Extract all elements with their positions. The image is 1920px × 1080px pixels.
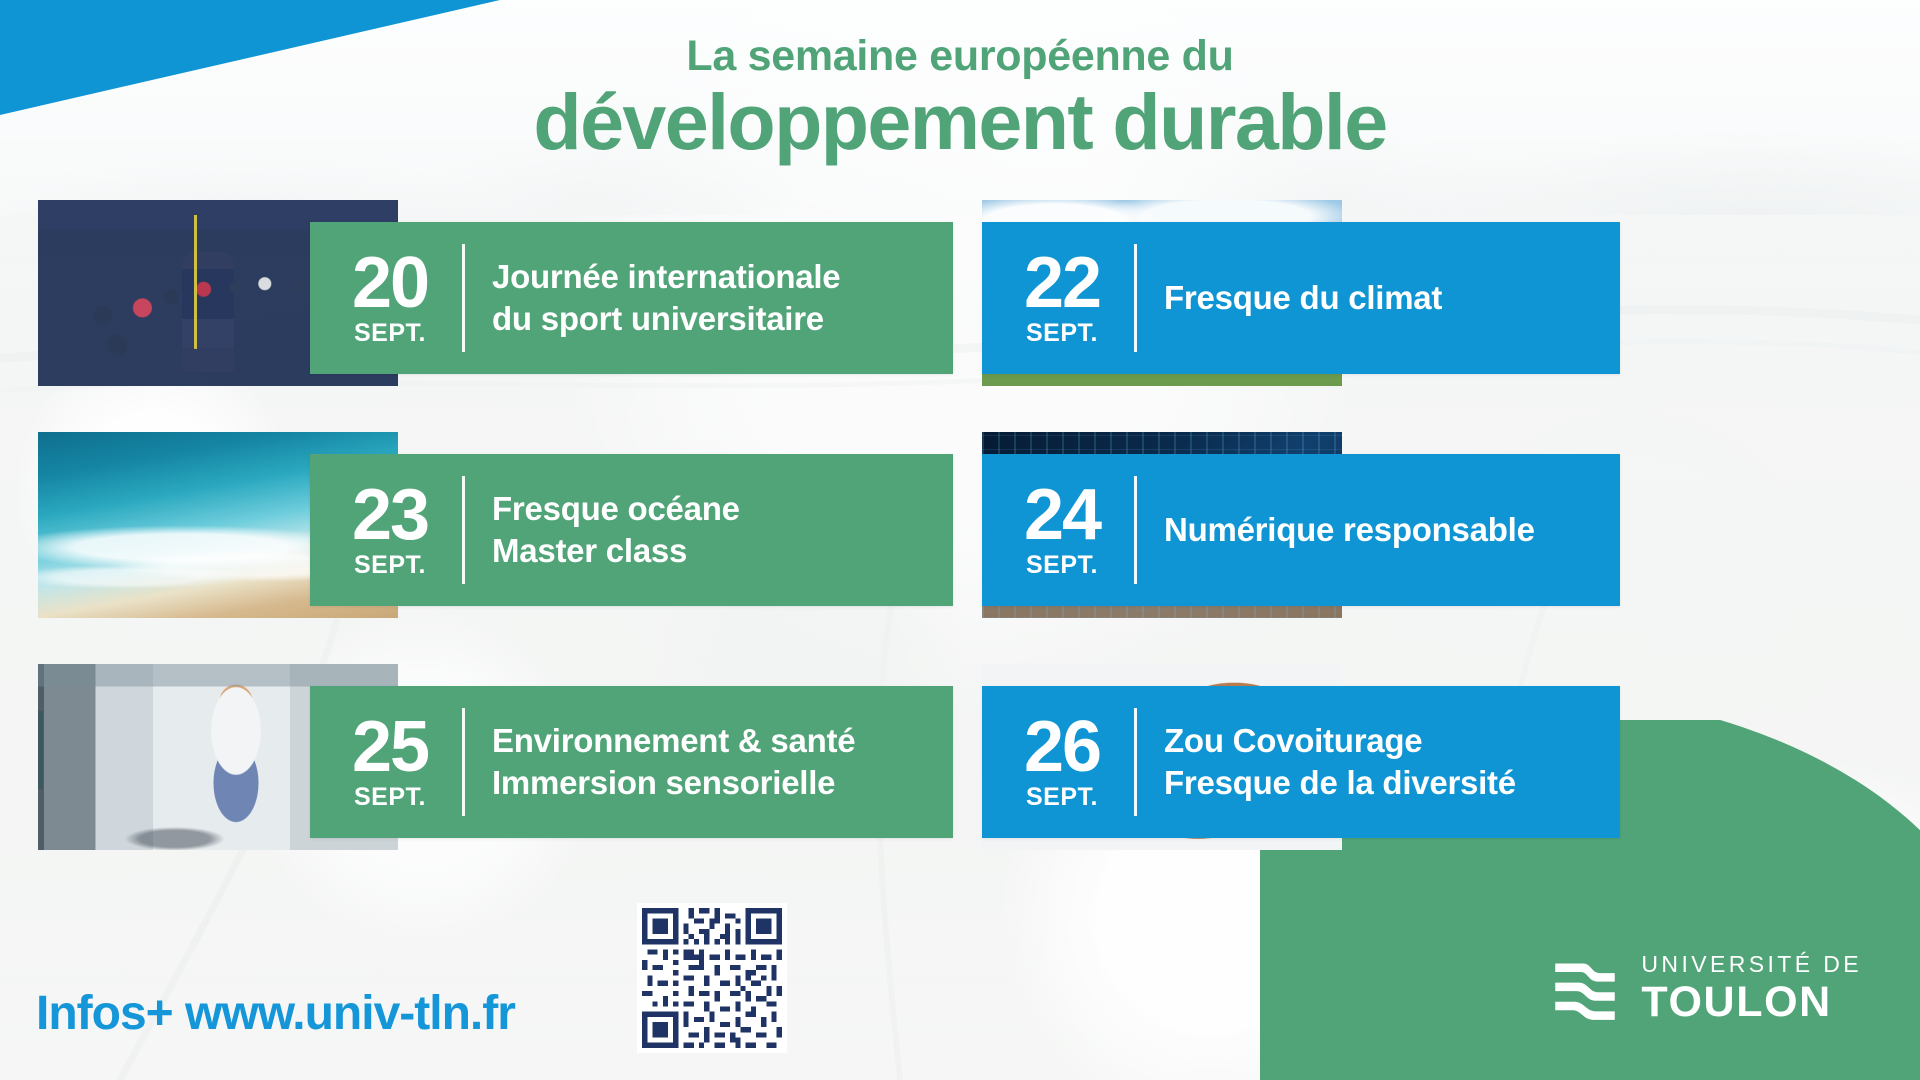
event-label-line: Environnement & santé (492, 720, 855, 762)
event-labels: Journée internationale du sport universi… (465, 256, 840, 340)
event-row-1: 20 SEPT. Journée internationale du sport… (0, 200, 1920, 400)
event-label-line: Master class (492, 530, 740, 572)
event-labels: Zou Covoiturage Fresque de la diversité (1137, 720, 1516, 804)
event-card-20-sept[interactable]: 20 SEPT. Journée internationale du sport… (38, 200, 953, 400)
qr-code-icon (637, 903, 787, 1053)
event-label-line: Fresque océane (492, 488, 740, 530)
event-label-line: Immersion sensorielle (492, 762, 855, 804)
event-date: 26 SEPT. (982, 714, 1134, 810)
event-month: SEPT. (354, 553, 426, 578)
divider (1134, 476, 1137, 584)
event-card-23-sept[interactable]: 23 SEPT. Fresque océane Master class (38, 432, 953, 632)
divider (462, 708, 465, 816)
event-day: 20 (352, 250, 428, 316)
event-bar: 20 SEPT. Journée internationale du sport… (310, 222, 953, 374)
event-labels: Numérique responsable (1137, 509, 1535, 551)
event-row-3: 25 SEPT. Environnement & santé Immersion… (0, 664, 1920, 864)
event-bar: 22 SEPT. Fresque du climat (982, 222, 1620, 374)
event-day: 25 (352, 714, 428, 780)
event-row-2: 23 SEPT. Fresque océane Master class AI (0, 432, 1920, 632)
event-month: SEPT. (1026, 321, 1098, 346)
photo-figure (182, 252, 234, 372)
event-label-line: Fresque de la diversité (1164, 762, 1516, 804)
event-label-line: Zou Covoiturage (1164, 720, 1516, 762)
event-label-line: Journée internationale (492, 256, 840, 298)
event-card-25-sept[interactable]: 25 SEPT. Environnement & santé Immersion… (38, 664, 953, 864)
divider (1134, 244, 1137, 352)
event-label-line: Fresque du climat (1164, 277, 1442, 319)
event-bar: 23 SEPT. Fresque océane Master class (310, 454, 953, 606)
logo-line-1: UNIVERSITÉ DE (1641, 953, 1862, 976)
event-date: 23 SEPT. (310, 482, 462, 578)
event-card-24-sept[interactable]: AI 24 SEPT. Numérique responsable (982, 432, 1894, 632)
event-bar: 24 SEPT. Numérique responsable (982, 454, 1620, 606)
event-day: 22 (1024, 250, 1100, 316)
event-labels: Environnement & santé Immersion sensorie… (465, 720, 855, 804)
event-day: 26 (1024, 714, 1100, 780)
events-grid: 20 SEPT. Journée internationale du sport… (0, 0, 1920, 1080)
event-month: SEPT. (354, 785, 426, 810)
event-card-26-sept[interactable]: 26 SEPT. Zou Covoiturage Fresque de la d… (982, 664, 1894, 864)
event-bar: 26 SEPT. Zou Covoiturage Fresque de la d… (982, 686, 1620, 838)
event-day: 23 (352, 482, 428, 548)
event-label-line: du sport universitaire (492, 298, 840, 340)
event-month: SEPT. (1026, 553, 1098, 578)
event-date: 22 SEPT. (982, 250, 1134, 346)
event-month: SEPT. (1026, 785, 1098, 810)
infos-link[interactable]: Infos+ www.univ-tln.fr (36, 986, 515, 1041)
event-date: 24 SEPT. (982, 482, 1134, 578)
wave-bars-logo-mark (1551, 955, 1619, 1023)
event-date: 25 SEPT. (310, 714, 462, 810)
divider (462, 244, 465, 352)
event-label-line: Numérique responsable (1164, 509, 1535, 551)
logo-text: UNIVERSITÉ DE TOULON (1641, 953, 1862, 1024)
event-month: SEPT. (354, 321, 426, 346)
event-card-22-sept[interactable]: 22 SEPT. Fresque du climat (982, 200, 1894, 400)
poster-canvas: La semaine européenne du développement d… (0, 0, 1920, 1080)
event-date: 20 SEPT. (310, 250, 462, 346)
divider (462, 476, 465, 584)
event-labels: Fresque du climat (1137, 277, 1442, 319)
event-day: 24 (1024, 482, 1100, 548)
university-logo: UNIVERSITÉ DE TOULON (1551, 953, 1862, 1024)
qr-code[interactable] (637, 903, 787, 1053)
logo-line-2: TOULON (1641, 981, 1862, 1024)
divider (1134, 708, 1137, 816)
event-bar: 25 SEPT. Environnement & santé Immersion… (310, 686, 953, 838)
event-labels: Fresque océane Master class (465, 488, 740, 572)
